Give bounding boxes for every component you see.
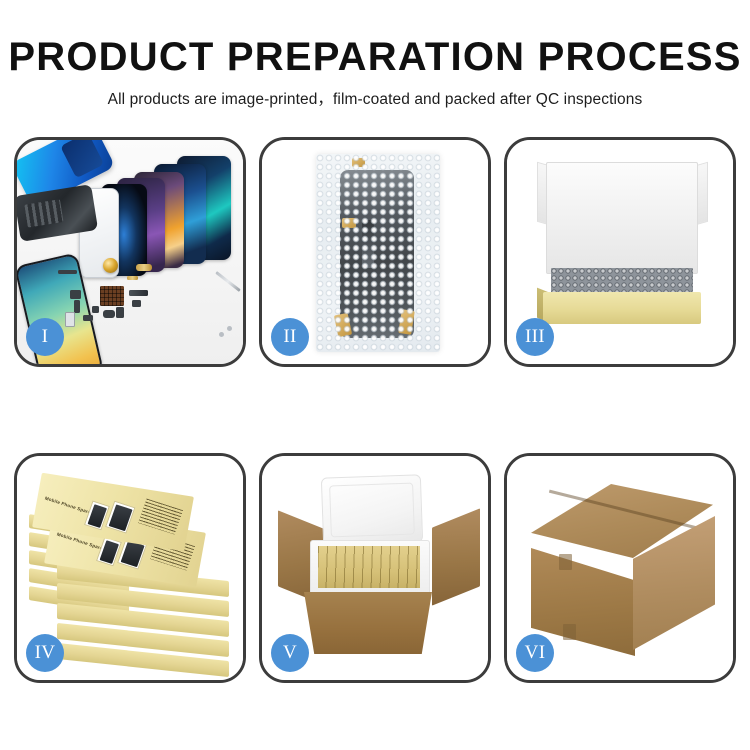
carton-flap-right-icon bbox=[432, 508, 480, 605]
bubble-texture-icon bbox=[316, 154, 440, 352]
process-step-panel-2[interactable]: II bbox=[259, 137, 491, 367]
battery-connector-icon bbox=[65, 312, 75, 327]
process-step-panel-4[interactable]: Mobile Phone Spare Parts Mobile Phone Sp… bbox=[14, 453, 246, 683]
process-step-panel-5[interactable]: V bbox=[259, 453, 491, 683]
retail-box-spec-lines-1 bbox=[138, 499, 183, 535]
process-step-panel-3[interactable]: III bbox=[504, 137, 736, 367]
vibration-motor-icon bbox=[103, 310, 115, 318]
carton-tab-lower-icon bbox=[563, 624, 576, 640]
bracket-part-2-icon bbox=[74, 300, 80, 313]
gold-speaker-part-icon bbox=[103, 258, 118, 273]
step-badge-2: II bbox=[271, 318, 309, 356]
tweezers-icon bbox=[215, 271, 240, 292]
step-badge-6: VI bbox=[516, 634, 554, 672]
flex-cable-part-icon bbox=[136, 264, 152, 271]
bubble-wrap-bag-icon bbox=[316, 154, 440, 352]
step-badge-3: III bbox=[516, 318, 554, 356]
camera-part-icon bbox=[132, 300, 141, 307]
carton-tab-upper-icon bbox=[559, 554, 572, 570]
logic-board-part-icon bbox=[100, 286, 124, 306]
page-title: PRODUCT PREPARATION PROCESS bbox=[0, 36, 750, 78]
connector-part-icon bbox=[129, 290, 148, 296]
packed-boxes-icon bbox=[318, 546, 420, 588]
white-foam-lid-icon bbox=[546, 162, 698, 274]
page-subtitle: All products are image-printed，film-coat… bbox=[0, 87, 750, 109]
flex-cable-small-icon bbox=[127, 276, 138, 280]
carton-body-icon bbox=[304, 592, 432, 654]
screw-2-icon bbox=[219, 332, 224, 337]
process-step-panel-6[interactable]: VI bbox=[504, 453, 736, 683]
screw-icon bbox=[227, 326, 232, 331]
bracket-part-icon bbox=[70, 290, 81, 299]
screw-cluster-icon bbox=[92, 306, 99, 313]
small-part-icon bbox=[58, 270, 77, 274]
sim-tray-icon bbox=[116, 307, 124, 318]
page-header: PRODUCT PREPARATION PROCESS All products… bbox=[0, 0, 750, 109]
step-badge-5: V bbox=[271, 634, 309, 672]
yellow-box-front-icon bbox=[543, 292, 701, 324]
step-badge-1: I bbox=[26, 318, 64, 356]
process-steps-grid: I II III bbox=[14, 137, 736, 683]
process-step-panel-1[interactable]: I bbox=[14, 137, 246, 367]
step-badge-4: IV bbox=[26, 634, 64, 672]
micro-part-icon bbox=[83, 315, 93, 321]
styrofoam-lid-icon bbox=[321, 474, 423, 545]
